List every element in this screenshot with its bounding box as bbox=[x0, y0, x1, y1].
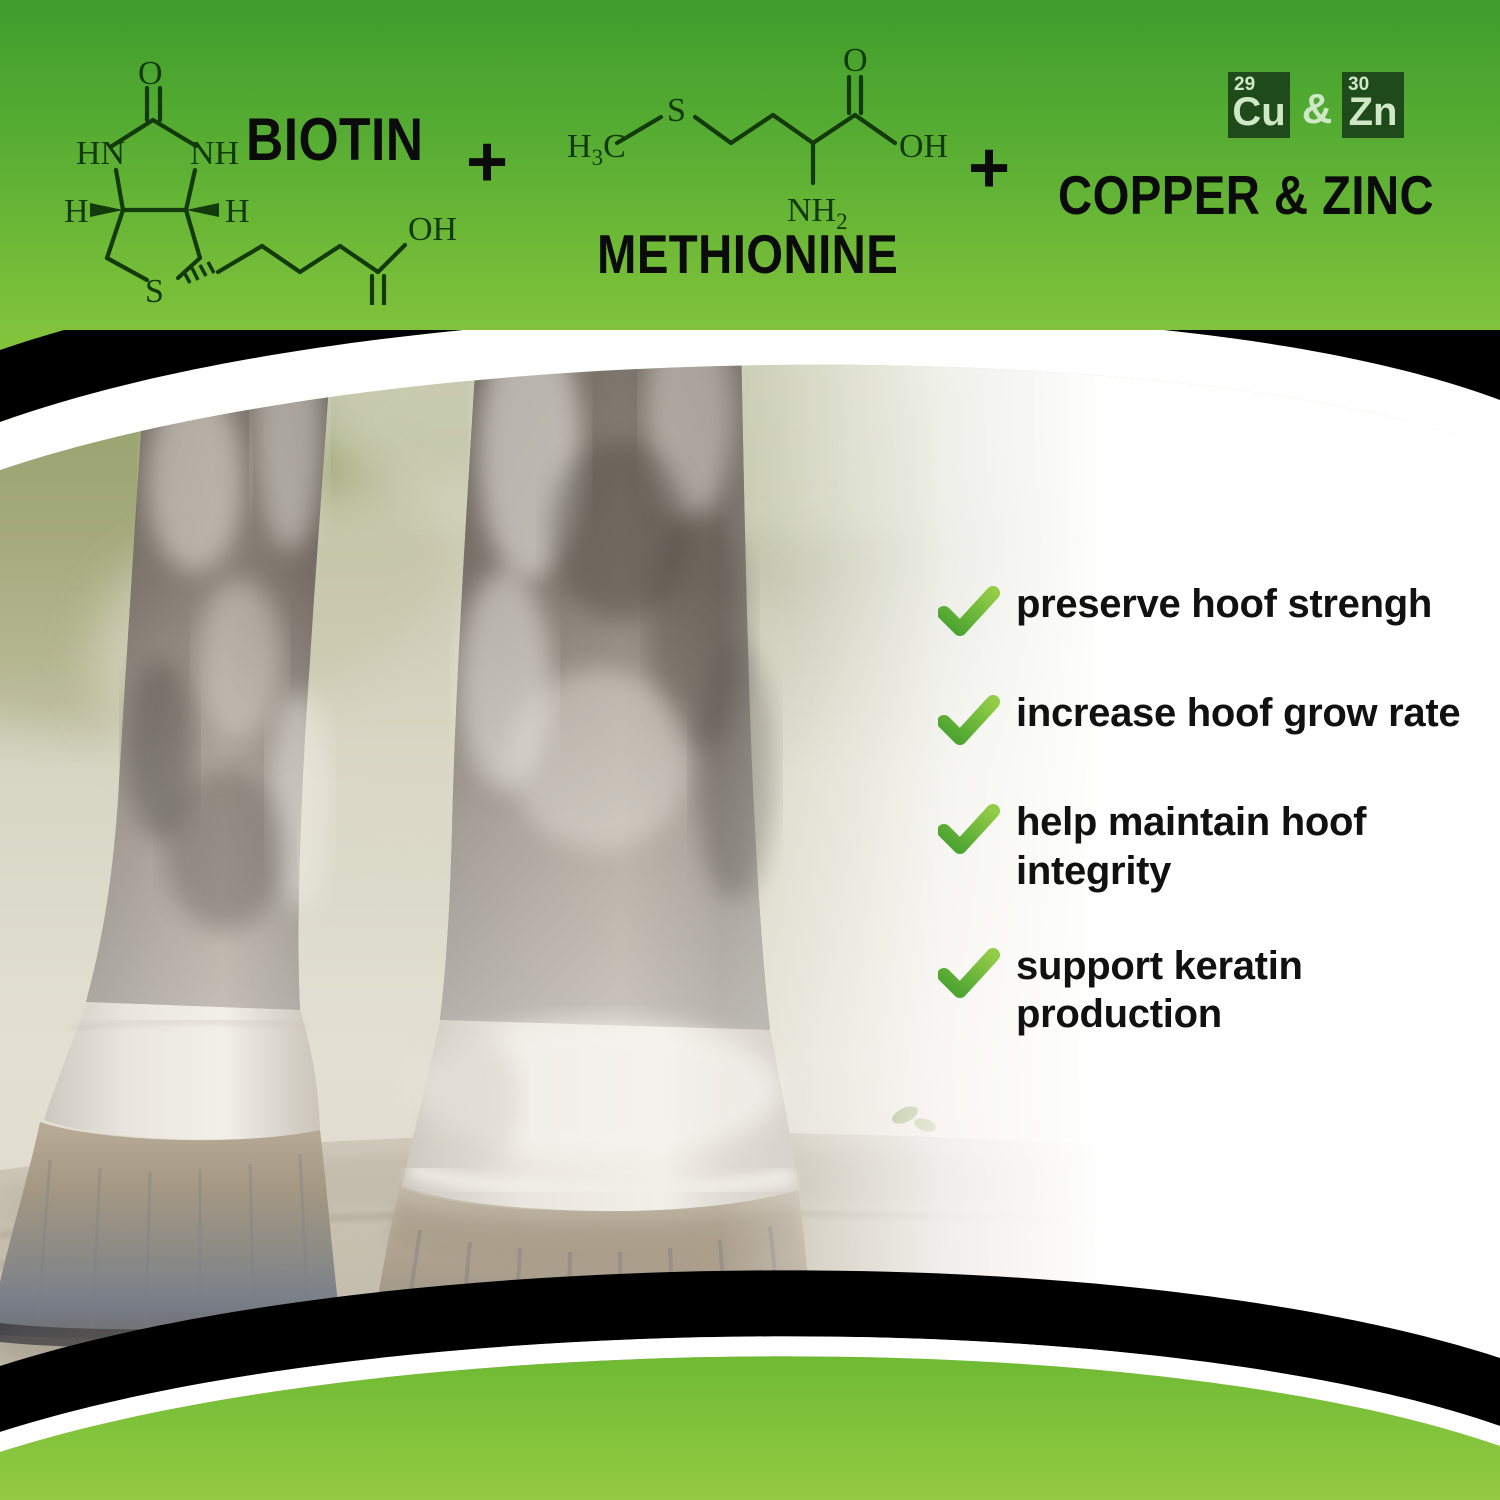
hoof-supplement-infographic: O HN NH H H S OH O bbox=[0, 0, 1500, 1500]
ingredient-label-biotin: BIOTIN bbox=[246, 105, 423, 174]
biotin-nh: NH bbox=[190, 135, 239, 172]
ampersand-symbol: & bbox=[1297, 88, 1337, 130]
benefit-item: support keratin production bbox=[938, 942, 1483, 1040]
methionine-hydroxyl: OH bbox=[899, 128, 948, 165]
benefit-item: help maintain hoof integrity bbox=[938, 798, 1483, 896]
benefit-item: preserve hoof strengh bbox=[938, 580, 1483, 643]
biotin-sulfur: S bbox=[145, 273, 164, 305]
biotin-hydroxyl: OH bbox=[408, 211, 457, 248]
element-tile-copper: 29 Cu bbox=[1228, 72, 1290, 138]
check-icon bbox=[938, 942, 1016, 1005]
bottom-decorative-band bbox=[0, 1240, 1500, 1500]
element-symbol-copper: Cu bbox=[1228, 92, 1290, 132]
methionine-methyl: H3C bbox=[567, 128, 626, 170]
methionine-molecule-diagram: H3C S O OH NH2 bbox=[555, 35, 975, 245]
ingredient-label-copper-zinc: COPPER & ZINC bbox=[1058, 163, 1434, 227]
check-icon bbox=[938, 689, 1016, 752]
plus-icon-2: + bbox=[968, 132, 1010, 204]
benefit-label: preserve hoof strengh bbox=[1016, 580, 1432, 629]
benefit-label: support keratin production bbox=[1016, 942, 1483, 1040]
biotin-h-left: H bbox=[64, 193, 89, 230]
methionine-carbonyl-o: O bbox=[843, 42, 868, 79]
biotin-hn: HN bbox=[76, 135, 125, 172]
methionine-sulfur: S bbox=[667, 92, 686, 129]
check-icon bbox=[938, 580, 1016, 643]
check-icon bbox=[938, 798, 1016, 861]
benefit-item: increase hoof grow rate bbox=[938, 689, 1483, 752]
plus-icon-1: + bbox=[466, 126, 508, 198]
benefits-list: preserve hoof strengh increase hoof grow… bbox=[938, 580, 1483, 1085]
benefit-label: help maintain hoof integrity bbox=[1016, 798, 1483, 896]
benefit-label: increase hoof grow rate bbox=[1016, 689, 1460, 738]
ingredient-label-methionine: METHIONINE bbox=[597, 222, 898, 286]
biotin-carbonyl-o: O bbox=[138, 55, 163, 92]
element-tile-zinc: 30 Zn bbox=[1342, 72, 1404, 138]
element-symbol-zinc: Zn bbox=[1342, 92, 1404, 132]
biotin-h-right: H bbox=[225, 193, 250, 230]
